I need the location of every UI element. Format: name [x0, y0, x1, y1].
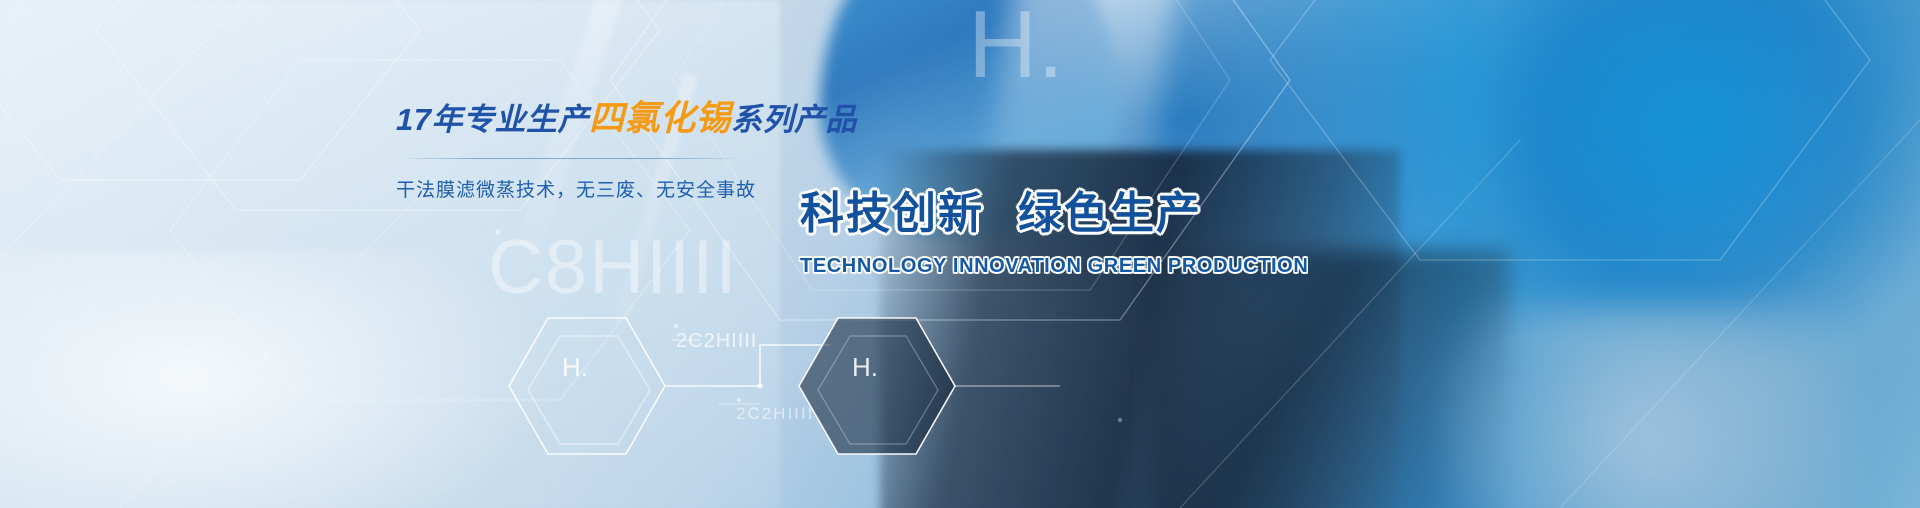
background-bokeh-lower-right: [1440, 308, 1860, 508]
slogan-part-two: 绿色生产: [1018, 189, 1202, 238]
watermark-formula-c8h: C8HIIII: [488, 224, 739, 311]
slogan-english: TECHNOLOGY INNOVATION GREEN PRODUCTION: [800, 255, 1190, 278]
headline-subtitle: 干法膜滤微蒸技术，无三废、无安全事故: [396, 175, 746, 202]
background-bokeh-right: [1480, 0, 1920, 360]
slogan-block: 科技创新绿色生产 TECHNOLOGY INNOVATION GREEN PRO…: [800, 186, 1190, 278]
slogan: 科技创新绿色生产: [800, 186, 1190, 241]
slogan-part-one: 科技创新: [800, 189, 984, 238]
hexagon-atom-label-right: H.: [852, 352, 878, 383]
hero-banner: H. C8HIIII 2C2HIIII 2C2HIIII H. H. 17年专业…: [0, 0, 1920, 508]
watermark-formula-2c2h-lower: 2C2HIIII: [736, 404, 814, 424]
headline-divider: [407, 158, 735, 159]
background-white-wash: [0, 250, 560, 508]
headline: 17年专业生产四氯化锡系列产品: [396, 98, 746, 140]
headline-block: 17年专业生产四氯化锡系列产品 干法膜滤微蒸技术，无三废、无安全事故: [396, 98, 746, 202]
headline-suffix: 系列产品: [731, 102, 857, 137]
headline-product-name: 四氯化锡: [589, 99, 731, 138]
hexagon-atom-label-left: H.: [562, 352, 588, 383]
headline-prefix: 17年专业生产: [396, 102, 589, 137]
watermark-atom-h-large: H.: [968, 0, 1064, 100]
watermark-formula-2c2h: 2C2HIIII: [676, 330, 757, 353]
